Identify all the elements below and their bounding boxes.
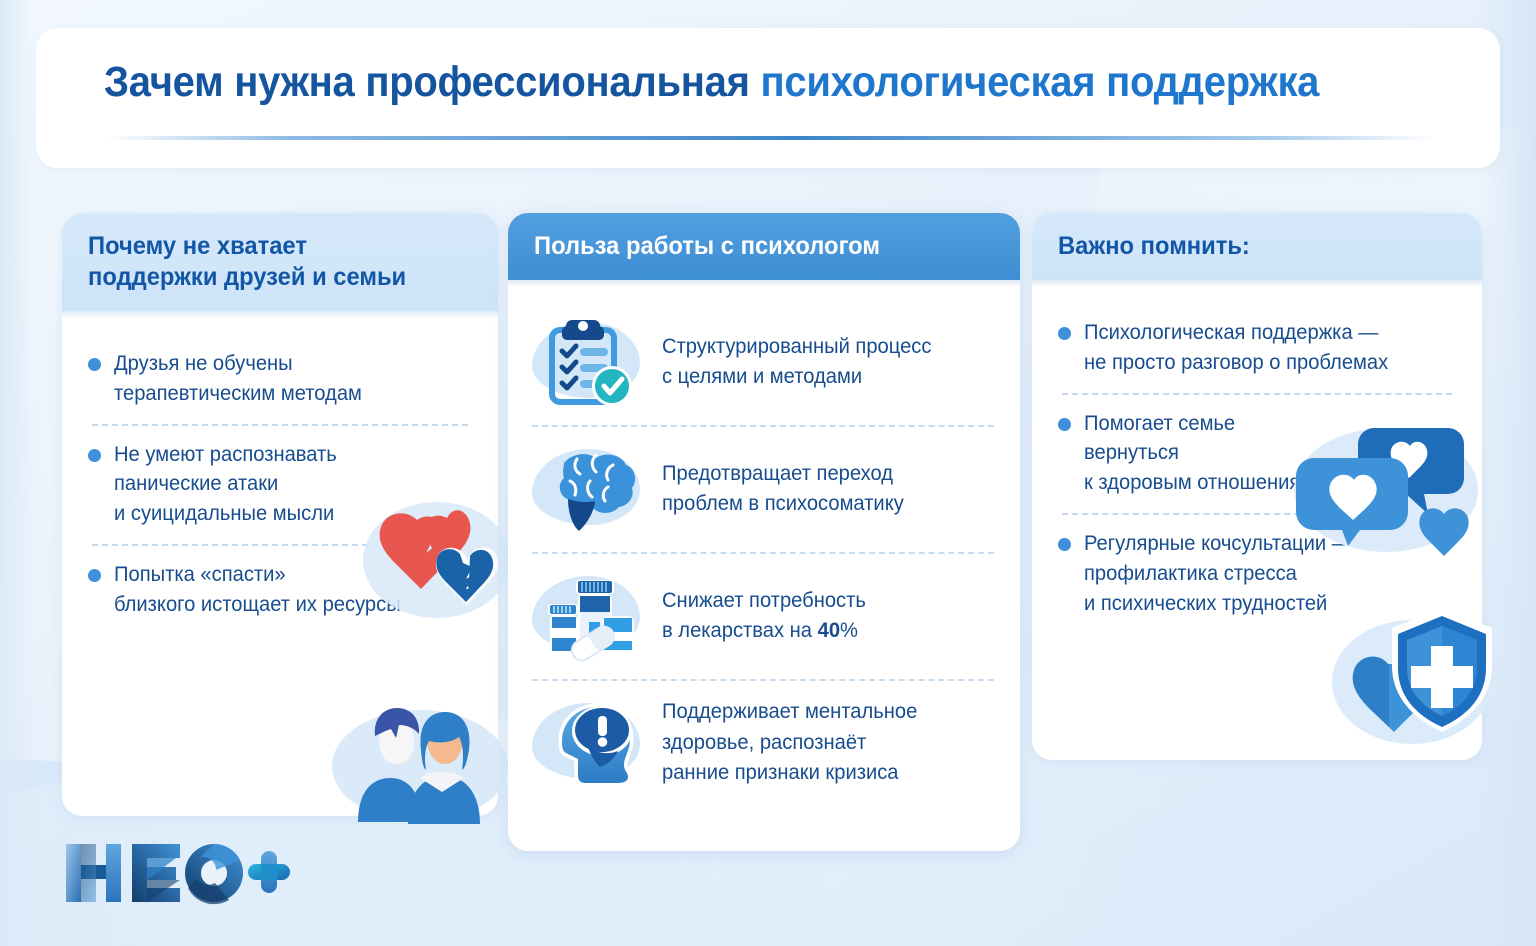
- list-item: Друзья не обучены терапевтическим метода…: [88, 337, 472, 422]
- list-item-label: Не умеют распознавать панические атаки и…: [114, 440, 337, 529]
- panel-right-header-text: Важно помнить:: [1058, 231, 1250, 262]
- bullet-dot-icon: [1058, 327, 1071, 340]
- page-title: Зачем нужна профессиональная психологиче…: [104, 58, 1319, 107]
- list-item-label: Поддерживает ментальное здоровье, распоз…: [662, 697, 917, 788]
- panel-middle-header-text: Польза работы с психологом: [534, 231, 880, 262]
- list-item: Предотвращает переход проблем в психосом…: [530, 427, 996, 552]
- header-divider: [106, 136, 1436, 140]
- bullet-dot-icon: [1058, 418, 1071, 431]
- list-item-label: Структурированный процесс с целями и мет…: [662, 332, 931, 393]
- head-alert-icon: [530, 691, 648, 795]
- broken-hearts-illustration: [355, 484, 525, 634]
- panel-right-header: Важно помнить:: [1032, 213, 1482, 280]
- stat-unit: %: [840, 619, 858, 642]
- brand-logo: [62, 838, 292, 910]
- list-item-label: Снижает потребность в лекарствах на 40%: [662, 586, 866, 647]
- logo-letter-e: [132, 844, 180, 902]
- bullet-dot-icon: [88, 449, 101, 462]
- list-item: Структурированный процесс с целями и мет…: [530, 300, 996, 425]
- page-title-part-1: Зачем нужна профессиональная: [104, 58, 760, 106]
- bullet-dot-icon: [88, 358, 101, 371]
- background-edge-left: [0, 0, 34, 946]
- list-item: Снижает потребность в лекарствах на 40%: [530, 554, 996, 679]
- divider: [1062, 393, 1452, 395]
- chat-bubbles-hearts-illustration: [1288, 418, 1484, 576]
- list-item-label: Психологическая поддержка — не просто ра…: [1084, 318, 1388, 378]
- list-item: Поддерживает ментальное здоровье, распоз…: [530, 681, 996, 806]
- panel-middle-header: Польза работы с психологом: [508, 213, 1020, 280]
- page-title-part-2: психологическая поддержка: [760, 58, 1319, 106]
- list-item-label: Предотвращает переход проблем в психосом…: [662, 459, 904, 520]
- couple-people-illustration: [322, 690, 518, 828]
- bullet-dot-icon: [1058, 538, 1071, 551]
- shield-heart-cross-illustration: [1330, 598, 1510, 758]
- panel-middle-item-list: Структурированный процесс с целями и мет…: [508, 280, 1020, 806]
- bullet-dot-icon: [88, 569, 101, 582]
- divider: [92, 424, 468, 426]
- panel-left-header-text: Почему не хватает поддержки друзей и сем…: [88, 231, 406, 293]
- medicine-bottles-icon: [530, 564, 648, 668]
- logo-plus-icon: [248, 851, 290, 893]
- header-card: Зачем нужна профессиональная психологиче…: [36, 28, 1500, 168]
- brain-icon: [530, 437, 648, 541]
- list-item-label: Друзья не обучены терапевтическим метода…: [114, 349, 362, 409]
- list-item-label: Помогает семье вернуться к здоровым отно…: [1084, 409, 1314, 498]
- panel-left-header: Почему не хватает поддержки друзей и сем…: [62, 213, 498, 311]
- list-item: Психологическая поддержка — не просто ра…: [1058, 306, 1456, 391]
- logo-letter-n: [66, 844, 121, 902]
- clipboard-checklist-icon: [530, 310, 648, 414]
- logo-letter-o: [185, 844, 243, 904]
- stat-value: 40: [818, 619, 840, 642]
- panel-benefits-of-psychologist: Польза работы с психологом: [508, 213, 1020, 851]
